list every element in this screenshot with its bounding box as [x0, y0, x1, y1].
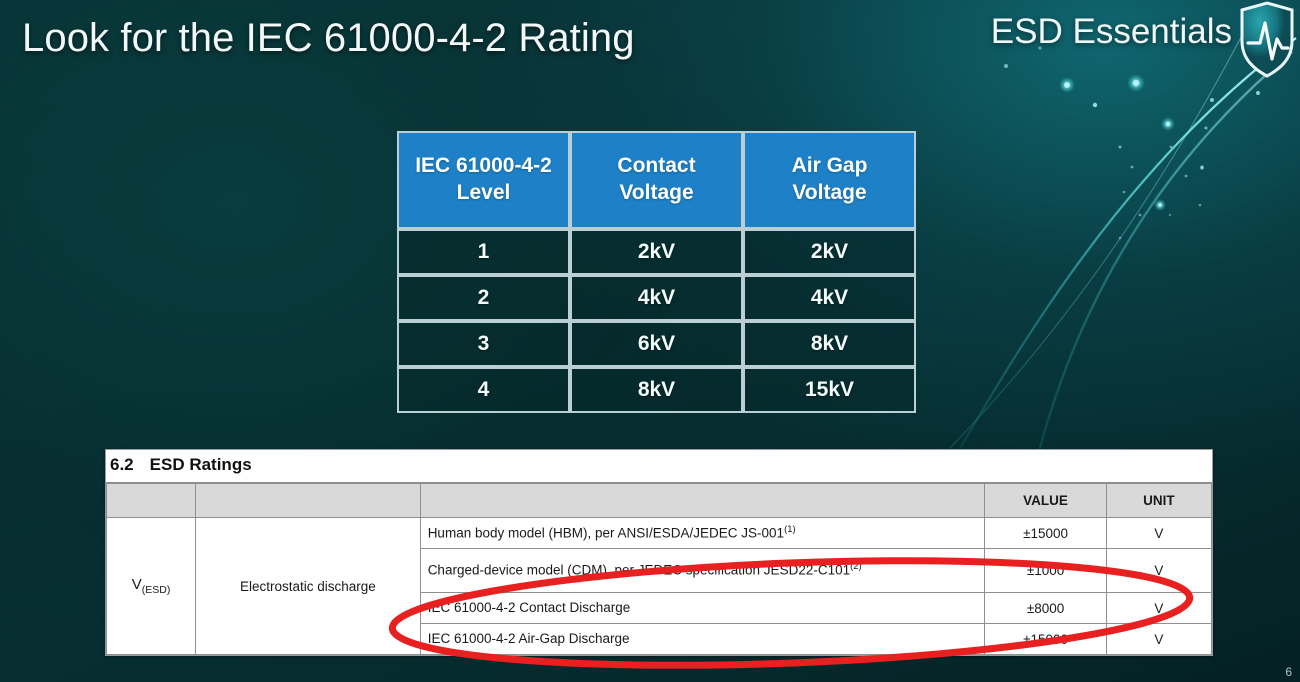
page-title: Look for the IEC 61000-4-2 Rating	[22, 16, 635, 61]
ds-header-symbol	[107, 484, 196, 518]
iec-header-level: IEC 61000-4-2 Level	[397, 131, 570, 229]
page-number: 6	[1285, 665, 1292, 679]
ds-header-unit: UNIT	[1106, 484, 1211, 518]
table-row: 3 6kV 8kV	[397, 321, 916, 367]
brand-label: ESD Essentials	[991, 12, 1232, 52]
ds-value-cell: ±15000	[985, 624, 1106, 655]
ds-condition-cell: IEC 61000-4-2 Air-Gap Discharge	[420, 624, 985, 655]
table-row: V(ESD) Electrostatic discharge Human bod…	[107, 518, 1212, 549]
symbol-main: V	[132, 576, 142, 593]
iec-airgap-value: 15kV	[743, 367, 916, 413]
esd-ratings-table: VALUE UNIT V(ESD) Electrostatic discharg…	[106, 483, 1212, 655]
ds-condition-cell: IEC 61000-4-2 Contact Discharge	[420, 593, 985, 624]
iec-rating-table: IEC 61000-4-2 Level Contact Voltage Air …	[397, 131, 916, 413]
table-row: 2 4kV 4kV	[397, 275, 916, 321]
footnote-marker: (2)	[850, 561, 862, 572]
datasheet-excerpt: 6.2ESD Ratings VALUE UNIT V(ESD)	[105, 449, 1213, 656]
section-number: 6.2	[110, 455, 134, 474]
iec-header-airgap-voltage: Air Gap Voltage	[743, 131, 916, 229]
ds-parameter-cell: Electrostatic discharge	[196, 518, 421, 655]
iec-contact-value: 8kV	[570, 367, 743, 413]
ds-value-cell: ±15000	[985, 518, 1106, 549]
ds-value-cell: ±8000	[985, 593, 1106, 624]
iec-contact-value: 2kV	[570, 229, 743, 275]
ds-symbol-cell: V(ESD)	[107, 518, 196, 655]
iec-contact-value: 4kV	[570, 275, 743, 321]
ds-unit-cell: V	[1106, 593, 1211, 624]
table-row: 4 8kV 15kV	[397, 367, 916, 413]
shield-pulse-icon	[1238, 1, 1296, 79]
datasheet-header-row: VALUE UNIT	[107, 484, 1212, 518]
symbol-sub: (ESD)	[142, 584, 171, 596]
ds-value-cell: ±1000	[985, 549, 1106, 593]
footnote-marker: (1)	[784, 524, 796, 535]
ds-header-value: VALUE	[985, 484, 1106, 518]
iec-level-value: 1	[397, 229, 570, 275]
ds-header-parameter	[196, 484, 421, 518]
iec-level-value: 3	[397, 321, 570, 367]
iec-airgap-value: 4kV	[743, 275, 916, 321]
iec-level-value: 4	[397, 367, 570, 413]
ds-condition-cell: Human body model (HBM), per ANSI/ESDA/JE…	[420, 518, 985, 549]
ds-header-condition	[420, 484, 985, 518]
ds-unit-cell: V	[1106, 624, 1211, 655]
datasheet-section-heading: 6.2ESD Ratings	[106, 450, 1212, 483]
iec-airgap-value: 8kV	[743, 321, 916, 367]
table-row: 1 2kV 2kV	[397, 229, 916, 275]
ds-condition-cell: Charged-device model (CDM), per JEDEC sp…	[420, 549, 985, 593]
ds-unit-cell: V	[1106, 518, 1211, 549]
iec-airgap-value: 2kV	[743, 229, 916, 275]
iec-contact-value: 6kV	[570, 321, 743, 367]
slide-canvas: Look for the IEC 61000-4-2 Rating ESD Es…	[0, 0, 1300, 682]
iec-table-header-row: IEC 61000-4-2 Level Contact Voltage Air …	[397, 131, 916, 229]
iec-header-contact-voltage: Contact Voltage	[570, 131, 743, 229]
iec-level-value: 2	[397, 275, 570, 321]
ds-unit-cell: V	[1106, 549, 1211, 593]
section-title: ESD Ratings	[150, 455, 252, 474]
